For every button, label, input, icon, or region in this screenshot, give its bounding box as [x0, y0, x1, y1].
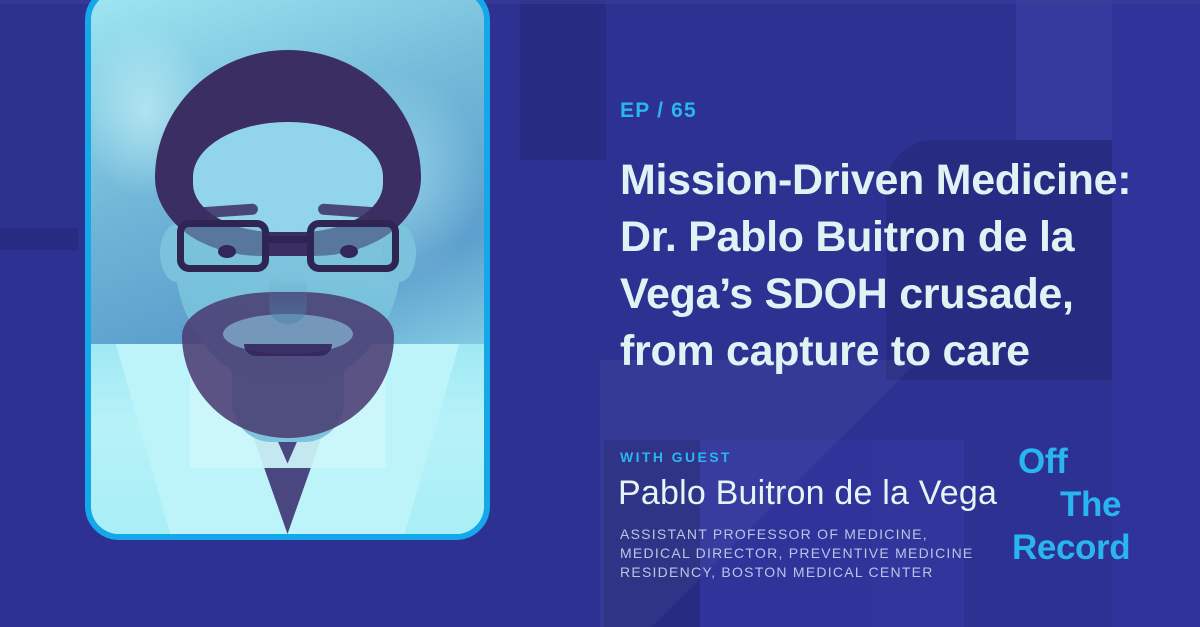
guest-portrait-image — [91, 0, 484, 534]
glasses-lens-left — [177, 220, 269, 272]
portrait-mouth — [244, 344, 332, 356]
with-guest-label: WITH GUEST — [620, 449, 732, 465]
portrait-nose — [269, 278, 307, 324]
bg-left-band — [0, 228, 78, 250]
episode-number-label: EP / 65 — [620, 99, 697, 123]
off-the-record-logo: Off The Record — [1012, 440, 1172, 590]
guest-role-line-2: MEDICAL DIRECTOR, PREVENTIVE MEDICINE — [620, 544, 1020, 563]
portrait-eye-left — [218, 245, 236, 258]
guest-name: Pablo Buitron de la Vega — [618, 474, 997, 513]
guest-role-line-3: RESIDENCY, BOSTON MEDICAL CENTER — [620, 563, 1020, 582]
episode-title: Mission-Driven Medicine: Dr. Pablo Buitr… — [620, 152, 1172, 380]
bg-gutter-band — [520, 0, 606, 160]
guest-photo-card — [85, 0, 490, 540]
logo-line-off: Off — [1018, 440, 1067, 484]
logo-line-the: The — [1060, 483, 1121, 527]
guest-role-line-1: ASSISTANT PROFESSOR OF MEDICINE, — [620, 525, 1020, 544]
glasses-bridge — [269, 236, 307, 243]
bg-left-column — [0, 0, 78, 228]
logo-line-record: Record — [1012, 526, 1130, 570]
portrait-eye-right — [340, 245, 358, 258]
guest-role: ASSISTANT PROFESSOR OF MEDICINE, MEDICAL… — [620, 525, 1020, 582]
podcast-episode-graphic: EP / 65 Mission-Driven Medicine: Dr. Pab… — [0, 0, 1200, 627]
portrait-glasses — [177, 220, 399, 276]
glasses-lens-right — [307, 220, 399, 272]
